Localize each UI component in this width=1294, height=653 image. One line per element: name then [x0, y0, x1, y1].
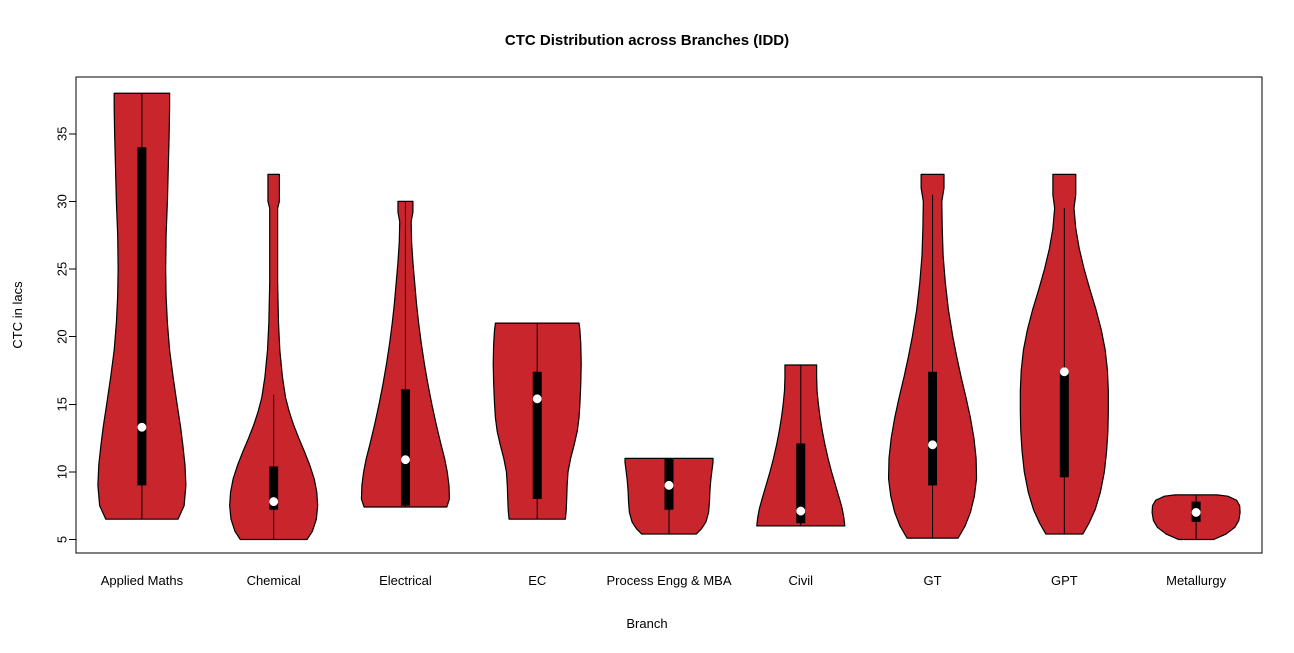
- chart-title: CTC Distribution across Branches (IDD): [505, 32, 789, 49]
- x-axis-category-label: Applied Maths: [101, 573, 184, 588]
- x-axis-category-label: Metallurgy: [1166, 573, 1226, 588]
- iqr-box: [137, 147, 146, 485]
- iqr-box: [401, 389, 410, 505]
- y-axis-title: CTC in lacs: [10, 281, 25, 349]
- median-marker: [1060, 368, 1068, 376]
- y-axis-tick-label: 35: [55, 127, 70, 141]
- y-axis-tick-label: 10: [55, 465, 70, 479]
- violin-metallurgy: [1152, 495, 1240, 540]
- median-marker: [138, 423, 146, 431]
- x-axis-category-label: GT: [924, 573, 942, 588]
- y-axis-tick-label: 25: [55, 262, 70, 276]
- x-axis-category-label: EC: [528, 573, 546, 588]
- plot-canvas: CTC Distribution across Branches (IDD) 5…: [0, 0, 1294, 653]
- y-axis-tick-label: 15: [55, 397, 70, 411]
- iqr-box: [1060, 372, 1069, 477]
- iqr-box: [533, 372, 542, 499]
- median-marker: [401, 455, 409, 463]
- violin-plot-figure: CTC Distribution across Branches (IDD) 5…: [0, 0, 1294, 653]
- violin-process-engg-mba: [625, 458, 713, 534]
- median-marker: [797, 507, 805, 515]
- y-axis-tick-label: 5: [55, 536, 70, 543]
- median-marker: [665, 481, 673, 489]
- x-axis-category-label: GPT: [1051, 573, 1078, 588]
- x-axis: Applied MathsChemicalElectricalECProcess…: [101, 573, 1227, 588]
- median-marker: [928, 441, 936, 449]
- iqr-box: [928, 372, 937, 486]
- y-axis-tick-label: 30: [55, 194, 70, 208]
- x-axis-title: Branch: [626, 616, 667, 631]
- x-axis-category-label: Chemical: [247, 573, 301, 588]
- median-marker: [533, 395, 541, 403]
- x-axis-category-label: Civil: [788, 573, 813, 588]
- median-marker: [1192, 508, 1200, 516]
- x-axis-category-label: Process Engg & MBA: [607, 573, 732, 588]
- median-marker: [269, 497, 277, 505]
- x-axis-category-label: Electrical: [379, 573, 432, 588]
- y-axis-tick-label: 20: [55, 329, 70, 343]
